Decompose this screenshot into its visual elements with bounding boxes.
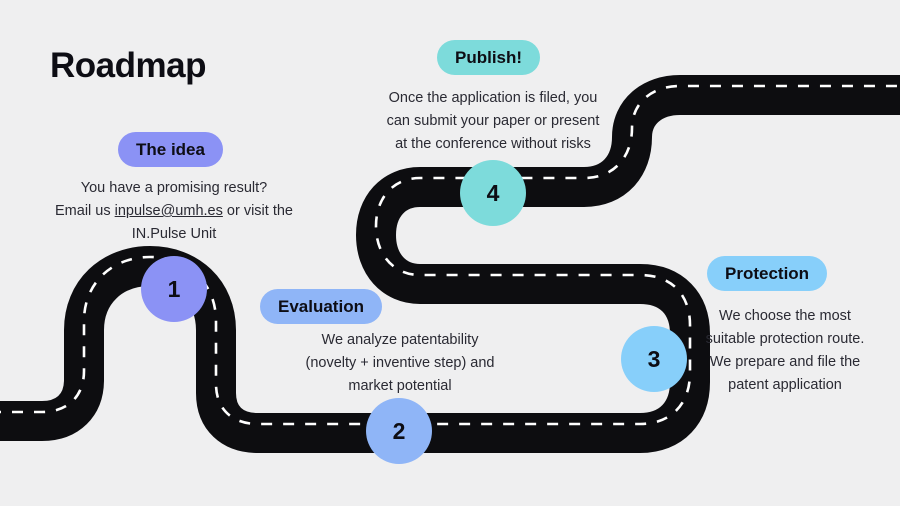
evaluation-line-2: (novelty + inventive step) and <box>294 352 506 375</box>
idea-line2-prefix: Email us <box>55 203 115 219</box>
roadmap-infographic: Roadmap The idea You have a promising re… <box>0 0 900 506</box>
protection-line-1: We choose the most <box>690 305 880 328</box>
publish-line-1: Once the application is filed, you <box>373 87 613 110</box>
badge-publish[interactable]: Publish! <box>437 40 540 75</box>
step-marker-4[interactable]: 4 <box>460 160 526 226</box>
description-evaluation: We analyze patentability (novelty + inve… <box>294 329 506 398</box>
protection-line-4: patent application <box>690 374 880 397</box>
idea-line-1: You have a promising result? <box>40 177 308 200</box>
step-marker-1[interactable]: 1 <box>141 256 207 322</box>
description-protection: We choose the most suitable protection r… <box>690 305 880 397</box>
page-title: Roadmap <box>50 48 206 83</box>
protection-line-3: We prepare and file the <box>690 351 880 374</box>
idea-line-3: IN.Pulse Unit <box>40 223 308 246</box>
step-marker-2[interactable]: 2 <box>366 398 432 464</box>
badge-the-idea[interactable]: The idea <box>118 132 223 167</box>
badge-evaluation[interactable]: Evaluation <box>260 289 382 324</box>
badge-protection[interactable]: Protection <box>707 256 827 291</box>
idea-line2-suffix: or visit the <box>223 203 293 219</box>
step-marker-3[interactable]: 3 <box>621 326 687 392</box>
publish-line-2: can submit your paper or present <box>373 110 613 133</box>
evaluation-line-1: We analyze patentability <box>294 329 506 352</box>
evaluation-line-3: market potential <box>294 375 506 398</box>
description-the-idea: You have a promising result? Email us in… <box>40 177 308 246</box>
publish-line-3: at the conference without risks <box>373 133 613 156</box>
protection-line-2: suitable protection route. <box>690 328 880 351</box>
description-publish: Once the application is filed, you can s… <box>373 87 613 156</box>
email-link[interactable]: inpulse@umh.es <box>115 203 223 219</box>
idea-line-2: Email us inpulse@umh.es or visit the <box>40 200 308 223</box>
